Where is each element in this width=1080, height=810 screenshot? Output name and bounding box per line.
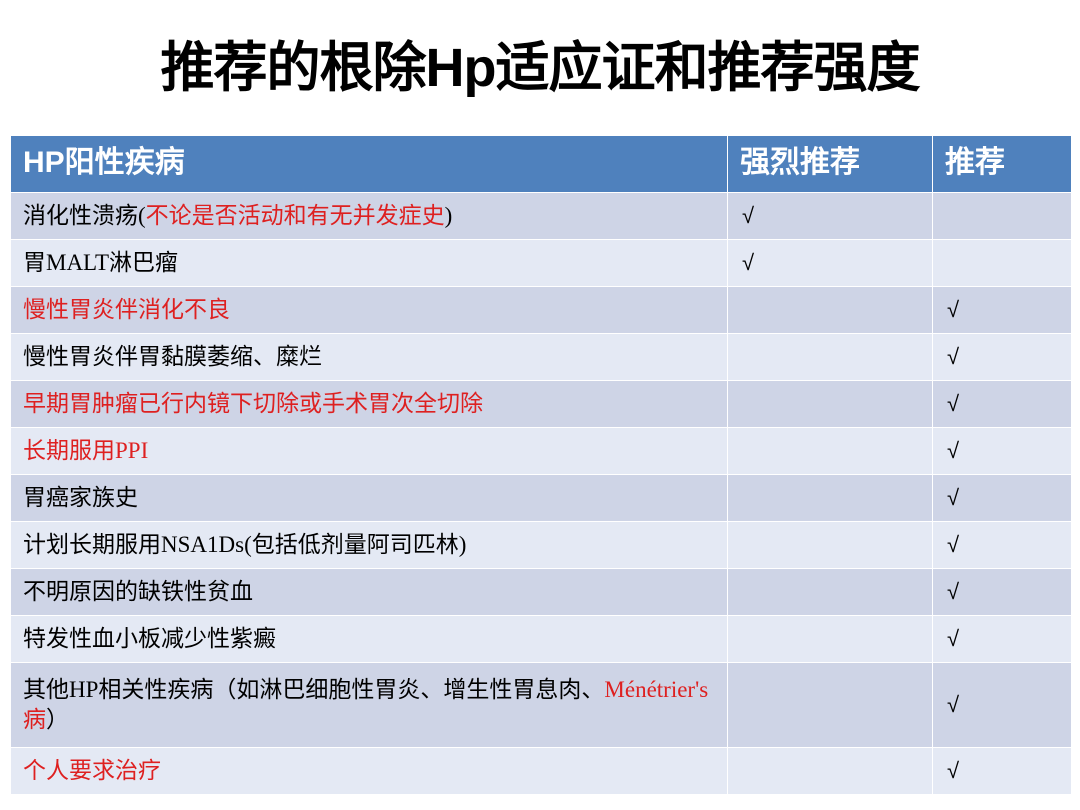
disease-text-segment: 慢性胃炎伴胃黏膜萎缩、糜烂: [23, 344, 322, 369]
cell-disease: 计划长期服用NSA1Ds(包括低剂量阿司匹林): [11, 522, 727, 568]
cell-strong-recommend-check: [728, 569, 932, 615]
table-body: 消化性溃疡(不论是否活动和有无并发症史)√胃MALT淋巴瘤√慢性胃炎伴消化不良√…: [11, 193, 1071, 794]
table-row: 慢性胃炎伴消化不良√: [11, 287, 1071, 333]
table-row: 不明原因的缺铁性贫血√: [11, 569, 1071, 615]
table-row: 胃癌家族史√: [11, 475, 1071, 521]
disease-text-segment: 长期服用PPI: [23, 438, 148, 463]
cell-disease: 特发性血小板减少性紫癜: [11, 616, 727, 662]
disease-text-segment: 不论是否活动和有无并发症史: [146, 203, 445, 228]
disease-text-segment: 早期胃肿瘤已行内镜下切除或手术胃次全切除: [23, 391, 483, 416]
cell-strong-recommend-check: [728, 334, 932, 380]
cell-recommend-check: √: [933, 663, 1071, 747]
disease-text-segment: 消化性溃疡(: [23, 203, 146, 228]
disease-text-segment: 胃癌家族史: [23, 485, 138, 510]
table-row: 特发性血小板减少性紫癜√: [11, 616, 1071, 662]
cell-disease: 消化性溃疡(不论是否活动和有无并发症史): [11, 193, 727, 239]
table-row: 消化性溃疡(不论是否活动和有无并发症史)√: [11, 193, 1071, 239]
table-row: 胃MALT淋巴瘤√: [11, 240, 1071, 286]
cell-recommend-check: √: [933, 522, 1071, 568]
cell-disease: 不明原因的缺铁性贫血: [11, 569, 727, 615]
cell-recommend-check: √: [933, 569, 1071, 615]
cell-strong-recommend-check: [728, 748, 932, 794]
cell-recommend-check: √: [933, 381, 1071, 427]
cell-recommend-check: √: [933, 287, 1071, 333]
disease-text-segment: 不明原因的缺铁性贫血: [23, 579, 253, 604]
cell-strong-recommend-check: [728, 428, 932, 474]
disease-text-segment: 特发性血小板减少性紫癜: [23, 626, 276, 651]
cell-strong-recommend-check: [728, 475, 932, 521]
cell-strong-recommend-check: [728, 287, 932, 333]
disease-text-segment: 计划长期服用NSA1Ds(包括低剂量阿司匹林): [23, 532, 466, 557]
cell-recommend-check: √: [933, 428, 1071, 474]
disease-text-segment: ): [445, 203, 453, 228]
cell-strong-recommend-check: √: [728, 240, 932, 286]
cell-recommend-check: √: [933, 748, 1071, 794]
cell-strong-recommend-check: [728, 522, 932, 568]
recommendation-table: HP阳性疾病 强烈推荐 推荐 消化性溃疡(不论是否活动和有无并发症史)√胃MAL…: [10, 135, 1072, 795]
table-header: HP阳性疾病 强烈推荐 推荐: [11, 136, 1071, 192]
slide-root: 推荐的根除Hp适应证和推荐强度 HP阳性疾病 强烈推荐 推荐 消化性溃疡(不论是…: [0, 0, 1080, 810]
table-row: 早期胃肿瘤已行内镜下切除或手术胃次全切除√: [11, 381, 1071, 427]
column-header-disease: HP阳性疾病: [11, 136, 727, 192]
disease-text-segment: 个人要求治疗: [23, 758, 161, 783]
cell-disease: 早期胃肿瘤已行内镜下切除或手术胃次全切除: [11, 381, 727, 427]
cell-disease: 其他HP相关性疾病（如淋巴细胞性胃炎、增生性胃息肉、Ménétrier's病）: [11, 663, 727, 747]
page-title: 推荐的根除Hp适应证和推荐强度: [0, 36, 1080, 100]
cell-disease: 胃MALT淋巴瘤: [11, 240, 727, 286]
disease-text-segment: 其他HP相关性疾病（如淋巴细胞性胃炎、增生性胃息肉、: [23, 677, 604, 702]
table-row: 计划长期服用NSA1Ds(包括低剂量阿司匹林)√: [11, 522, 1071, 568]
column-header-strong-recommend: 强烈推荐: [728, 136, 932, 192]
table-row: 其他HP相关性疾病（如淋巴细胞性胃炎、增生性胃息肉、Ménétrier's病）√: [11, 663, 1071, 747]
table-header-row: HP阳性疾病 强烈推荐 推荐: [11, 136, 1071, 192]
cell-disease: 慢性胃炎伴胃黏膜萎缩、糜烂: [11, 334, 727, 380]
cell-strong-recommend-check: [728, 381, 932, 427]
cell-strong-recommend-check: [728, 663, 932, 747]
cell-recommend-check: [933, 193, 1071, 239]
cell-disease: 慢性胃炎伴消化不良: [11, 287, 727, 333]
cell-recommend-check: [933, 240, 1071, 286]
cell-recommend-check: √: [933, 616, 1071, 662]
cell-strong-recommend-check: √: [728, 193, 932, 239]
table-row: 慢性胃炎伴胃黏膜萎缩、糜烂√: [11, 334, 1071, 380]
disease-text-segment: 胃MALT淋巴瘤: [23, 250, 178, 275]
cell-disease: 长期服用PPI: [11, 428, 727, 474]
table-row: 个人要求治疗√: [11, 748, 1071, 794]
table-row: 长期服用PPI√: [11, 428, 1071, 474]
cell-disease: 个人要求治疗: [11, 748, 727, 794]
cell-strong-recommend-check: [728, 616, 932, 662]
cell-disease: 胃癌家族史: [11, 475, 727, 521]
recommendation-table-container: HP阳性疾病 强烈推荐 推荐 消化性溃疡(不论是否活动和有无并发症史)√胃MAL…: [10, 135, 1070, 795]
cell-recommend-check: √: [933, 475, 1071, 521]
column-header-recommend: 推荐: [933, 136, 1071, 192]
disease-text-segment: 慢性胃炎伴消化不良: [23, 297, 230, 322]
disease-text-segment: ）: [46, 707, 69, 732]
cell-recommend-check: √: [933, 334, 1071, 380]
